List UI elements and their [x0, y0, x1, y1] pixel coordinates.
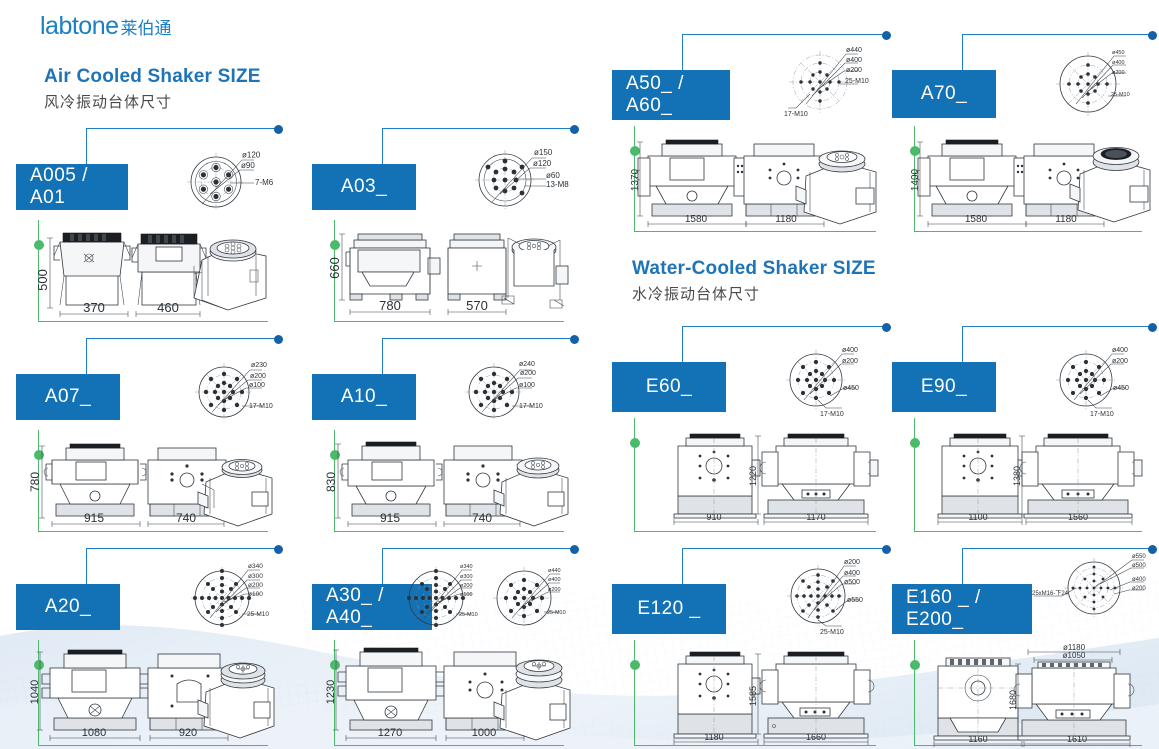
dim-side-width: 740 [472, 511, 492, 525]
dimension-drawing: 780 915 740 [30, 430, 278, 530]
dim-front-width: 1080 [82, 727, 106, 739]
product-card-a03[interactable]: A03_ ø150 [304, 128, 574, 322]
mounting-hole-pattern: ø440 ø400 ø200 25-M10 17-M10 [784, 38, 884, 126]
mounting-hole-pattern: ø400 ø200 ø450 17-M10 [1052, 338, 1152, 420]
mounting-hole-pattern: ø240 ø200 ø100 17-M10 [462, 350, 558, 428]
dim-front-width: 1180 [704, 732, 723, 742]
hole-label-0: ø150 [534, 148, 553, 157]
dim-height: 1220 [748, 466, 758, 486]
product-card-a005-a01[interactable]: A005 / A01 [8, 128, 278, 322]
hole-label-4: 25-M10 [820, 629, 844, 636]
card-label[interactable]: A70_ [892, 70, 996, 118]
dim-front-width: 1270 [378, 727, 402, 739]
dim-side-width: 1610 [1067, 734, 1087, 744]
hole-label-2: ø450 [1113, 385, 1129, 392]
dim-side-width: 740 [176, 511, 196, 525]
product-card-a07[interactable]: A07_ [8, 338, 278, 532]
hole-label-1: ø200 [1112, 358, 1128, 365]
product-card-a10[interactable]: A10_ [304, 338, 574, 532]
hole-label-2: ø200 [1112, 70, 1125, 76]
mounting-hole-pattern: ø120 ø90 7-M6 [184, 142, 280, 220]
hole2-label-0: ø440 [548, 568, 561, 574]
dim-front-width: 1580 [965, 214, 988, 225]
hole-label-0: ø120 [242, 151, 261, 160]
hole-label-4: 25-M10 [247, 611, 269, 618]
section-heading-air-cooled: Air Cooled Shaker SIZE 风冷振动台体尺寸 [44, 66, 261, 112]
hole-label-1: ø400 [844, 570, 860, 577]
accent-dot-green [630, 438, 640, 448]
accent-dot-blue [570, 545, 579, 554]
hole-label-2: ø100 [519, 382, 535, 389]
hole-label-2: ø60 [546, 171, 560, 180]
dim-front-width: 915 [380, 511, 400, 525]
dim-side-width: 570 [466, 298, 488, 313]
dim-height: 1040 [29, 680, 41, 704]
hole2-label-3: 25-M10 [547, 610, 566, 616]
hole-label-1: ø500 [1132, 563, 1146, 569]
hole-label-1: ø300 [248, 573, 263, 580]
dim-front-width: 1580 [685, 214, 708, 225]
hole-label-1: ø400 [846, 57, 862, 64]
hole-label-0: ø450 [1112, 50, 1125, 56]
mounting-hole-pattern: ø340 ø300 ø200 ø100 25-M10 [190, 554, 286, 638]
card-label[interactable]: A07_ [16, 374, 120, 420]
card-label[interactable]: E120 _ [612, 584, 726, 634]
mounting-hole-pattern: ø400 ø200 ø450 17-M10 [782, 338, 882, 420]
card-label[interactable]: E60_ [612, 362, 726, 412]
hole-label-3: ø100 [248, 591, 263, 598]
hole-label-3: 17-M10 [820, 411, 844, 418]
hole-label-1: ø300 [460, 574, 473, 580]
hole-label-2: 7-M6 [255, 178, 274, 187]
card-label[interactable]: A20_ [16, 584, 120, 630]
dim-front-width: 1100 [968, 512, 987, 522]
dimension-drawing: 1040 1080 920 [28, 640, 278, 744]
dim-front-width: 910 [706, 512, 721, 522]
hole-label-3: 17-M10 [519, 403, 543, 410]
mounting-hole-pattern: ø550 ø500 ø400 ø200 25xM16-下24 [1032, 550, 1152, 624]
hole-label-2: ø500 [844, 579, 860, 586]
accent-dot-blue [274, 545, 283, 554]
hole-label-2: ø100 [249, 382, 265, 389]
section-title-en: Water-Cooled Shaker SIZE [632, 258, 876, 280]
hole2-label-1: ø400 [548, 577, 561, 583]
dim-side-width: 920 [179, 727, 197, 739]
hole-label-2: ø450 [843, 385, 859, 392]
accent-dot-blue [1148, 323, 1157, 332]
hole-label-0: ø340 [248, 563, 263, 570]
dim-top-b: ø1050 [1063, 651, 1086, 660]
dim-height: 1380 [1012, 466, 1022, 486]
brand-name-cjk: 莱伯通 [121, 14, 172, 39]
dim-front-width: 915 [84, 511, 104, 525]
hole-label-3: ø100 [460, 592, 473, 598]
dim-height: 1585 [748, 686, 758, 706]
dimension-drawing: 500 370 460 [36, 220, 276, 320]
dim-height: 1230 [325, 680, 337, 704]
accent-dot-blue [570, 125, 579, 134]
dim-front-width: 1160 [968, 734, 987, 744]
accent-dot-blue [274, 335, 283, 344]
dim-side-width: 460 [157, 300, 179, 315]
dimension-drawing: 1220 910 1170 [652, 422, 882, 526]
dim-height: 780 [28, 472, 42, 492]
dimension-drawing: 1380 1100 1560 [918, 422, 1148, 526]
dim-height: 1680 [1008, 690, 1018, 710]
hole-label-1: ø200 [842, 358, 858, 365]
dim-height: 1370 [630, 168, 641, 191]
dim-height: 1400 [910, 168, 921, 191]
dim-side-width: 1000 [472, 727, 496, 739]
dim-side-width: 1180 [775, 214, 797, 225]
hole-label-0: ø440 [846, 47, 862, 54]
accent-dot-blue [570, 335, 579, 344]
dim-front-width: 370 [83, 300, 105, 315]
hole-label-2: ø200 [846, 67, 862, 74]
mounting-hole-pattern-secondary: ø440 ø400 ø200 25-M10 [492, 554, 580, 638]
mounting-hole-pattern: ø450 ø400 ø200 25-M10 [1054, 38, 1150, 126]
hole-label-1: ø90 [241, 161, 255, 170]
dim-side-width: 1170 [806, 512, 825, 522]
product-card-e120[interactable]: E120 _ [604, 548, 886, 746]
section-title-en: Air Cooled Shaker SIZE [44, 66, 261, 88]
accent-dot-blue [274, 125, 283, 134]
hole-label-3: 17-M10 [249, 403, 273, 410]
dimension-drawing: 660 780 570 [332, 218, 572, 320]
hole2-label-2: ø200 [548, 587, 561, 593]
dimension-drawing: 1585 1180 1660 [652, 642, 882, 746]
card-label[interactable]: A03_ [312, 164, 416, 210]
product-size-sheet: labtone 莱伯通 Air Cooled Shaker SIZE 风冷振动台… [0, 0, 1159, 749]
dim-side-width: 1180 [1055, 214, 1077, 225]
product-card-a70[interactable]: A70_ [884, 34, 1152, 232]
hole-label-3: 13-M8 [546, 180, 569, 189]
brand-name-latin: labtone [40, 12, 119, 41]
product-card-e160-e200[interactable]: E160 _ / E200_ [884, 548, 1152, 746]
hole-label-0: ø550 [1132, 554, 1146, 560]
hole-label-0: ø400 [1112, 347, 1128, 354]
card-label[interactable]: A005 / A01 [16, 164, 128, 210]
dimension-drawing: 830 915 740 [326, 430, 574, 530]
section-title-cn: 水冷振动台体尺寸 [632, 283, 876, 304]
hole-label-3: 25-M10 [1111, 92, 1130, 98]
product-card-a20[interactable]: A20_ [8, 548, 278, 746]
product-card-a30-a40[interactable]: A30_ / A40_ [304, 548, 574, 746]
dimension-drawing: 1400 1580 1180 [906, 130, 1152, 230]
dim-side-width: 1660 [806, 732, 826, 742]
dim-front-width: 780 [379, 298, 401, 313]
hole-label-2: ø200 [460, 583, 473, 589]
hole-label-1: ø200 [520, 370, 536, 377]
mounting-hole-pattern: ø230 ø200 ø100 17-M10 [194, 350, 284, 428]
hole-label-3: 25-M10 [845, 78, 869, 85]
hole-label-1: ø120 [533, 159, 552, 168]
hole-label-3: 17-M10 [1090, 411, 1114, 418]
hole-label-0: ø340 [460, 564, 473, 570]
section-heading-water-cooled: Water-Cooled Shaker SIZE 水冷振动台体尺寸 [632, 258, 876, 304]
hole-label-3: ø550 [847, 597, 863, 604]
hole-label-4: 25-M10 [459, 612, 478, 618]
hole-label-0: ø200 [844, 559, 860, 566]
hole-label-3: ø200 [1132, 586, 1146, 592]
product-card-e60[interactable]: E60_ [604, 326, 886, 532]
card-label[interactable]: A50_ / A60_ [612, 70, 730, 120]
dimension-drawing: ø1180 ø1050 1680 1160 1610 [914, 644, 1150, 748]
product-card-a50-a60[interactable]: A50_ / A60_ [604, 34, 886, 232]
mounting-hole-pattern: ø150 ø120 ø60 13-M8 [472, 138, 576, 218]
card-label[interactable]: A10_ [312, 374, 416, 420]
section-title-cn: 风冷振动台体尺寸 [44, 91, 261, 112]
hole-label-1: ø400 [1112, 60, 1125, 66]
dimension-drawing: 1230 1270 1000 [324, 640, 574, 744]
hole-label-0: ø230 [251, 362, 267, 369]
dim-height: 660 [327, 257, 342, 279]
brand-logo: labtone 莱伯通 [40, 12, 172, 41]
hole-label-2: ø400 [1132, 577, 1146, 583]
accent-dot-green [630, 660, 640, 670]
dim-height: 500 [35, 269, 50, 291]
dim-side-width: 1560 [1068, 512, 1088, 522]
hole-label-4: 25xM16-下24 [1032, 590, 1069, 597]
hole-label-2: ø200 [248, 582, 263, 589]
hole-label-4: 17-M10 [784, 111, 808, 118]
card-label[interactable]: E90_ [892, 362, 996, 412]
mounting-hole-pattern: ø200 ø400 ø500 ø550 25-M10 [784, 552, 884, 638]
dimension-drawing: 1370 1580 1180 [626, 130, 884, 230]
product-card-e90[interactable]: E90_ [884, 326, 1152, 532]
hole-label-1: ø200 [250, 373, 266, 380]
hole-label-0: ø240 [519, 361, 535, 368]
hole-label-0: ø400 [842, 347, 858, 354]
card-label[interactable]: E160 _ / E200_ [892, 584, 1032, 634]
dim-height: 830 [324, 472, 338, 492]
mounting-hole-pattern: ø340 ø300 ø200 ø100 25-M10 [404, 554, 492, 638]
